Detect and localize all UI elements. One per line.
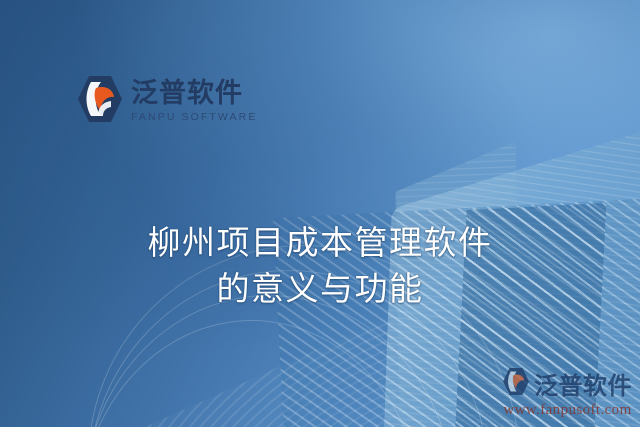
watermark-name-cn: 泛普软件 (534, 366, 632, 401)
brand-name-cn: 泛普软件 (131, 80, 243, 107)
page-title-line-1: 柳州项目成本管理软件 (0, 220, 640, 266)
fanpu-watermark-mark-icon (503, 368, 529, 400)
watermark-row: 泛普软件 (503, 366, 632, 401)
promo-banner: 泛普软件 FANPU SOFTWARE 柳州项目成本管理软件 的意义与功能 泛普… (0, 0, 640, 427)
watermark-url: www.fanpusoft.com (503, 402, 632, 419)
brand-wordmark: 泛普软件 FANPU SOFTWARE (131, 80, 257, 123)
architecture-backdrop (0, 0, 640, 427)
brand-name-en: FANPU SOFTWARE (131, 112, 257, 123)
page-title-line-2: 的意义与功能 (0, 266, 640, 312)
watermark: 泛普软件 www.fanpusoft.com (503, 366, 632, 419)
fanpu-logo-mark-icon (78, 76, 122, 127)
page-title: 柳州项目成本管理软件 的意义与功能 (0, 220, 640, 311)
brand-logo: 泛普软件 FANPU SOFTWARE (78, 76, 257, 127)
